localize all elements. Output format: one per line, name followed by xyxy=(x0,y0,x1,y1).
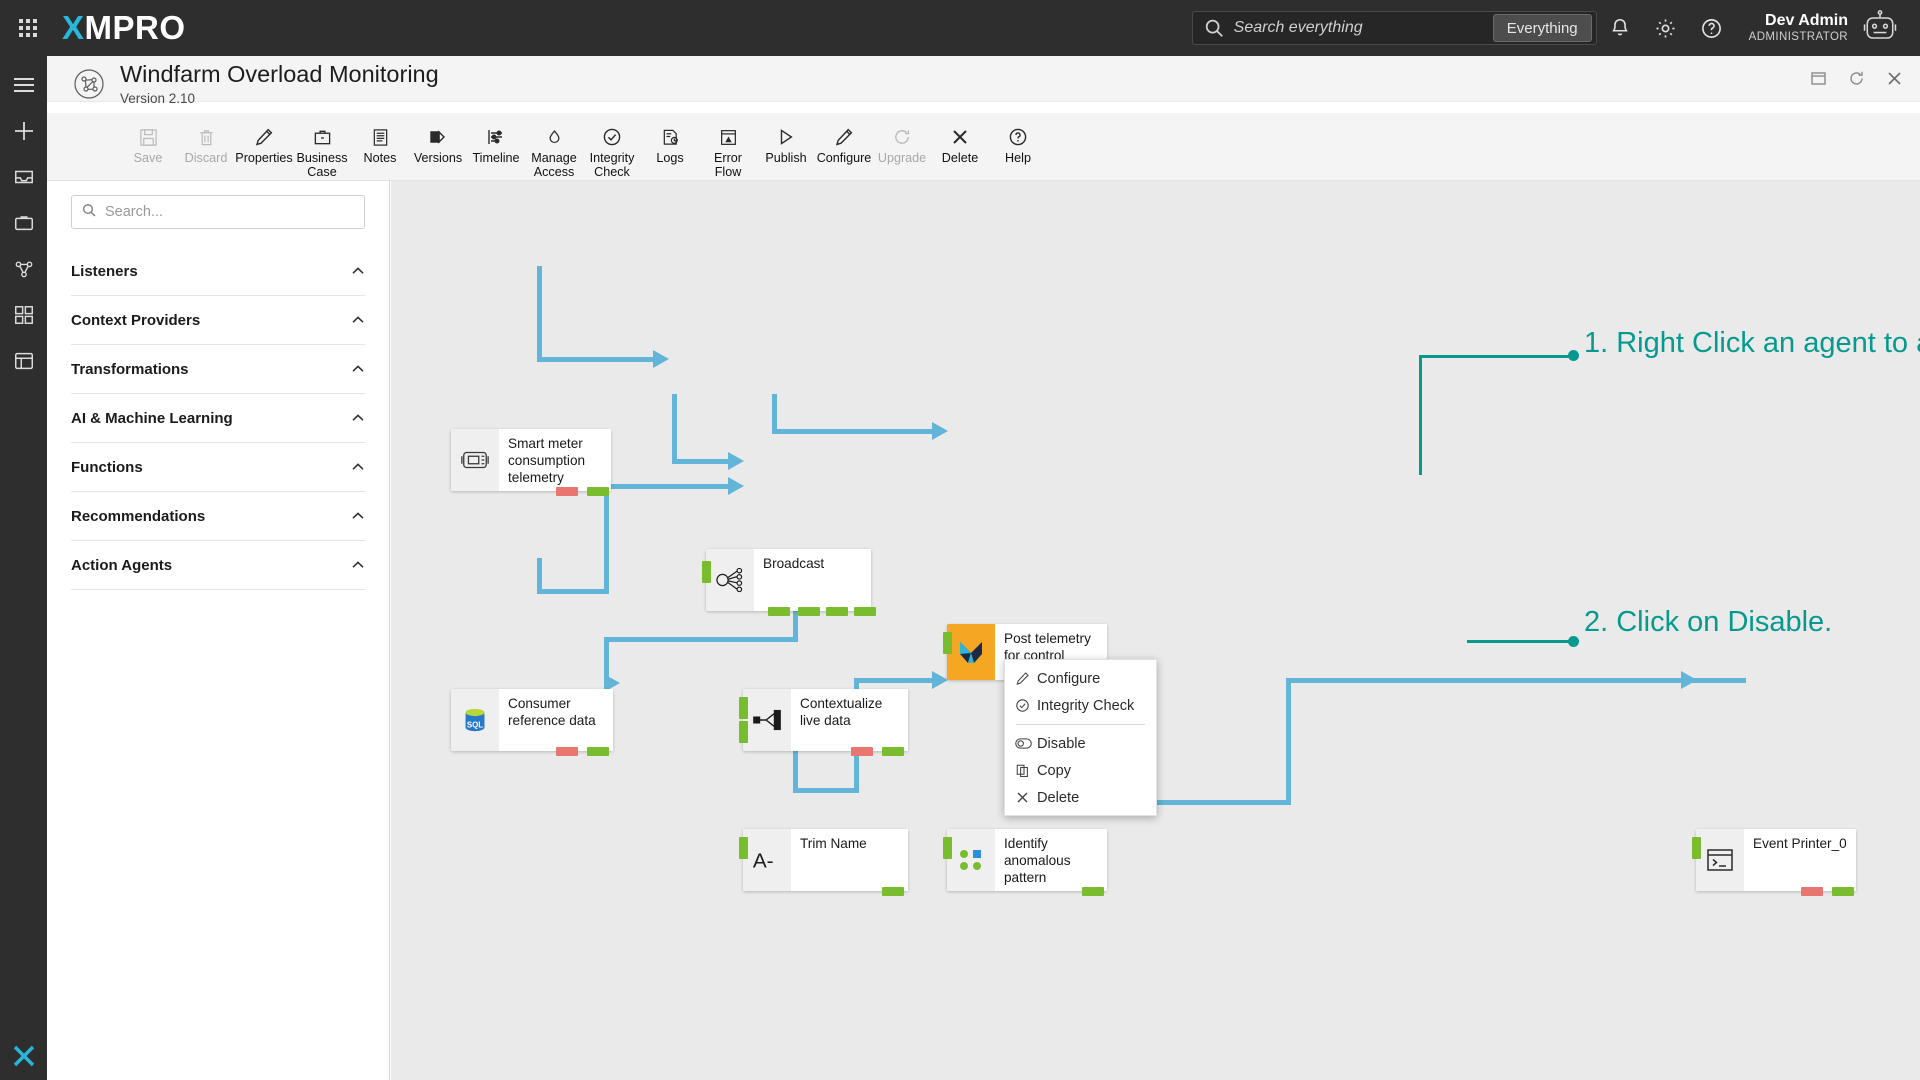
flow-node-consumer-ref[interactable]: SQL Consumer reference data xyxy=(451,689,613,751)
toolbar-upgrade-label: Upgrade xyxy=(878,151,926,165)
node-port-in[interactable] xyxy=(943,632,952,654)
palette-search[interactable] xyxy=(71,195,365,229)
toolbar-integrity-check-label: Integrity Check xyxy=(583,151,641,180)
arrowhead xyxy=(932,671,948,689)
flow-node-broadcast[interactable]: Broadcast xyxy=(706,549,871,611)
user-name: Dev Admin xyxy=(1749,12,1848,30)
node-body: Consumer reference data xyxy=(499,689,613,751)
check-circle-icon xyxy=(602,121,622,147)
flow-node-title: Consumer reference data xyxy=(508,696,605,730)
toolbar-discard[interactable]: Discard xyxy=(177,113,235,165)
link-consumer-ctx-v2 xyxy=(604,486,609,591)
x-icon xyxy=(1015,790,1037,805)
palette-section-label: AI & Machine Learning xyxy=(71,410,233,427)
node-port-in[interactable] xyxy=(1692,837,1701,859)
palette-section-ai-machine-learning[interactable]: AI & Machine Learning xyxy=(71,394,365,443)
help-circle-icon xyxy=(1008,121,1028,147)
chevron-up-icon xyxy=(351,460,365,474)
node-port-in-2[interactable] xyxy=(739,721,748,743)
node-port-in[interactable] xyxy=(702,561,711,583)
search-icon xyxy=(81,202,97,223)
node-port-error[interactable] xyxy=(556,487,578,496)
flow-node-title: Smart meter consumption telemetry xyxy=(508,436,603,487)
flow-node-title: Trim Name xyxy=(800,836,900,853)
link-identify-printer-v2 xyxy=(1286,678,1291,805)
node-port-in-1[interactable] xyxy=(739,697,748,719)
context-menu-label: Integrity Check xyxy=(1037,698,1134,714)
toolbar-save[interactable]: Save xyxy=(119,113,177,165)
node-port-out-2[interactable] xyxy=(798,607,820,616)
copy-icon xyxy=(1015,763,1037,778)
context-menu-label: Copy xyxy=(1037,763,1071,779)
flow-node-event-printer[interactable]: Event Printer_0 xyxy=(1696,829,1856,891)
node-port-out[interactable] xyxy=(1082,887,1104,896)
palette-section-recommendations[interactable]: Recommendations xyxy=(71,492,365,541)
notes-icon xyxy=(371,121,390,147)
xmpro-x-icon[interactable] xyxy=(0,1042,47,1068)
link-broadcast-ctx-v1 xyxy=(672,394,677,464)
toolbar-business-case[interactable]: Business Case xyxy=(293,113,351,180)
toolbar-properties[interactable]: Properties xyxy=(235,113,293,165)
dashboard-icon[interactable] xyxy=(0,338,47,384)
annotation-2-leader-h xyxy=(1467,640,1572,643)
toolbar-configure-label: Configure xyxy=(817,151,872,165)
context-menu-separator xyxy=(1016,724,1145,725)
toolbar-properties-label: Properties xyxy=(235,151,292,165)
palette-section-label: Action Agents xyxy=(71,557,172,574)
palette-search-input[interactable] xyxy=(97,204,355,220)
meter-device-icon xyxy=(451,429,499,491)
logo-x: X xyxy=(62,9,85,47)
hamburger-menu-icon[interactable] xyxy=(0,62,47,108)
search-icon xyxy=(1203,17,1225,39)
toolbar-manage-access-label: Manage Access xyxy=(525,151,583,180)
node-body: Smart meter consumption telemetry xyxy=(499,429,611,491)
top-bar: XMPRO Everything Dev Admin ADMINISTRATOR xyxy=(0,0,1920,56)
toolbar-error-flow[interactable]: Error Flow xyxy=(699,113,757,180)
flow-node-title: Identify anomalous pattern xyxy=(1004,836,1099,887)
node-body: Identify anomalous pattern xyxy=(995,829,1107,891)
node-port-out[interactable] xyxy=(882,887,904,896)
palette-section-action-agents[interactable]: Action Agents xyxy=(71,541,365,590)
link-consumer-ctx-h2 xyxy=(604,484,732,489)
node-body: Event Printer_0 xyxy=(1744,829,1856,891)
node-port-out[interactable] xyxy=(1832,887,1854,896)
context-menu-item-copy[interactable]: Copy xyxy=(1005,757,1156,784)
x-icon xyxy=(950,121,970,147)
node-port-out-3[interactable] xyxy=(826,607,848,616)
link-consumer-ctx-h1 xyxy=(537,589,609,594)
palette-section-label: Context Providers xyxy=(71,312,200,329)
link-identify-printer-h2 xyxy=(1286,678,1746,683)
node-port-error[interactable] xyxy=(851,747,873,756)
node-port-out-1[interactable] xyxy=(768,607,790,616)
node-body: Contextualize live data xyxy=(791,689,908,751)
context-menu-item-delete[interactable]: Delete xyxy=(1005,784,1156,811)
palette-section-label: Recommendations xyxy=(71,508,205,525)
node-port-out[interactable] xyxy=(882,747,904,756)
annotation-2-dot xyxy=(1568,636,1579,647)
arrowhead xyxy=(728,452,744,470)
palette-section-listeners[interactable]: Listeners xyxy=(71,247,365,296)
toolbar-timeline[interactable]: Timeline xyxy=(467,113,525,165)
manage-access-icon xyxy=(545,121,564,147)
bell-icon[interactable] xyxy=(1597,5,1643,51)
page-container: Windfarm Overload Monitoring Version 2.1… xyxy=(47,56,1920,1080)
flow-node-smart-meter[interactable]: Smart meter consumption telemetry xyxy=(451,429,611,491)
link-broadcast-post-h xyxy=(772,429,937,434)
link-broadcast-post-v xyxy=(772,394,777,434)
context-menu-item-configure[interactable]: Configure xyxy=(1005,665,1156,692)
page-header: Windfarm Overload Monitoring Version 2.1… xyxy=(47,56,1920,102)
chevron-up-icon xyxy=(351,411,365,425)
play-icon xyxy=(776,121,796,147)
palette-section-label: Transformations xyxy=(71,361,189,378)
arrowhead xyxy=(653,350,669,368)
node-port-out-4[interactable] xyxy=(854,607,876,616)
briefcase-icon[interactable] xyxy=(0,200,47,246)
agent-palette-panel: Listeners Context Providers Transformati… xyxy=(47,181,390,1080)
inbox-icon[interactable] xyxy=(0,154,47,200)
help-icon[interactable] xyxy=(1689,5,1735,51)
node-port-error[interactable] xyxy=(1801,887,1823,896)
broadcast-icon xyxy=(706,549,754,611)
apps-grid-icon[interactable] xyxy=(0,0,56,56)
logs-icon xyxy=(661,121,680,147)
context-menu-label: Disable xyxy=(1037,736,1086,752)
toolbar-save-label: Save xyxy=(134,151,163,165)
window-controls xyxy=(1808,68,1904,88)
node-context-menu[interactable]: Configure Integrity Check Disable xyxy=(1004,659,1157,816)
link-trim-identify-h xyxy=(793,788,859,793)
link-broadcast-ctx-h xyxy=(672,459,732,464)
logo-text: MPRO xyxy=(85,9,186,47)
context-menu-label: Configure xyxy=(1037,671,1100,687)
chevron-up-icon xyxy=(351,362,365,376)
refresh-button[interactable] xyxy=(1846,68,1866,88)
toolbar-configure[interactable]: Configure xyxy=(815,113,873,165)
page-titles: Windfarm Overload Monitoring Version 2.1… xyxy=(120,60,439,106)
toolbar-publish-label: Publish xyxy=(765,151,806,165)
toolbar-notes[interactable]: Notes xyxy=(351,113,409,165)
palette-section-functions[interactable]: Functions xyxy=(71,443,365,492)
toggle-off-icon xyxy=(1015,737,1037,750)
pencil-icon xyxy=(254,121,274,147)
flow-node-identify-anomalous[interactable]: Identify anomalous pattern xyxy=(947,829,1107,891)
toolbar-manage-access[interactable]: Manage Access xyxy=(525,113,583,180)
annotation-1-leader-h xyxy=(1419,355,1574,358)
upgrade-icon xyxy=(892,121,912,147)
link-ctx-trim-h xyxy=(604,637,798,642)
node-port-in[interactable] xyxy=(739,837,748,859)
toolbar-discard-label: Discard xyxy=(185,151,228,165)
flow-node-title: Broadcast xyxy=(763,556,863,573)
page-title: Windfarm Overload Monitoring xyxy=(120,60,439,88)
link-smartmeter-broadcast-v xyxy=(537,266,542,362)
text-trim-icon: A- xyxy=(743,829,791,891)
toolbar-integrity-check[interactable]: Integrity Check xyxy=(583,113,641,180)
toolbar-upgrade[interactable]: Upgrade xyxy=(873,113,931,165)
save-icon xyxy=(139,121,158,147)
xmpro-agent-icon xyxy=(947,624,995,680)
node-port-out[interactable] xyxy=(587,747,609,756)
flow-canvas[interactable]: Smart meter consumption telemetry Broadc… xyxy=(391,181,1920,1080)
palette-section-label: Functions xyxy=(71,459,143,476)
error-flow-icon xyxy=(719,121,738,147)
link-trim-identify-h2 xyxy=(854,678,939,683)
chevron-up-icon xyxy=(351,264,365,278)
annotation-1-leader-v xyxy=(1419,357,1422,475)
toolbar-timeline-label: Timeline xyxy=(472,151,519,165)
toolbar-delete[interactable]: Delete xyxy=(931,113,989,165)
link-trim-identify-v xyxy=(793,749,798,793)
context-menu-label: Delete xyxy=(1037,790,1079,806)
page-version: Version 2.10 xyxy=(120,91,439,107)
pencil-icon xyxy=(1015,671,1037,686)
sql-database-icon: SQL xyxy=(451,689,499,751)
annotation-1-text: 1. Right Click an agent to access the Co… xyxy=(1584,326,1920,361)
toolbar-logs[interactable]: Logs xyxy=(641,113,699,165)
toolbar-help-label: Help xyxy=(1005,151,1031,165)
arrowhead xyxy=(728,477,744,495)
chevron-up-icon xyxy=(351,509,365,523)
palette-search-wrap xyxy=(47,181,389,237)
xmpro-logo[interactable]: XMPRO xyxy=(62,9,186,47)
palette-section-transformations[interactable]: Transformations xyxy=(71,345,365,394)
search-scope-button[interactable]: Everything xyxy=(1493,14,1592,42)
briefcase-icon xyxy=(313,121,332,147)
palette-sections: Listeners Context Providers Transformati… xyxy=(47,237,389,590)
data-stream-icon xyxy=(72,67,106,101)
minimize-button[interactable] xyxy=(1808,68,1828,88)
svg-text:A-: A- xyxy=(753,850,774,873)
versions-icon xyxy=(428,121,448,147)
toolbar-business-case-label: Business Case xyxy=(293,151,351,180)
console-icon xyxy=(1696,829,1744,891)
gear-icon[interactable] xyxy=(1643,5,1689,51)
link-consumer-ctx-v xyxy=(537,558,542,593)
join-merge-icon xyxy=(743,689,791,751)
context-menu-item-disable[interactable]: Disable xyxy=(1005,730,1156,757)
toolbar-publish[interactable]: Publish xyxy=(757,113,815,165)
flow-toolbar: Save Discard Properties Business Case No xyxy=(47,113,1920,181)
node-body: Trim Name xyxy=(791,829,908,891)
global-search[interactable]: Everything xyxy=(1192,11,1597,45)
annotation-1-dot xyxy=(1568,350,1579,361)
flow-node-title: Event Printer_0 xyxy=(1753,836,1848,853)
toolbar-help[interactable]: Help xyxy=(989,113,1047,165)
toolbar-versions-label: Versions xyxy=(414,151,462,165)
close-button[interactable] xyxy=(1884,68,1904,88)
node-port-error[interactable] xyxy=(556,747,578,756)
palette-section-label: Listeners xyxy=(71,263,138,280)
flow-node-trim-name[interactable]: A- Trim Name xyxy=(743,829,908,891)
left-rail xyxy=(0,56,47,1080)
chevron-up-icon xyxy=(351,313,365,327)
toolbar-logs-label: Logs xyxy=(656,151,683,165)
toolbar-error-flow-label: Error Flow xyxy=(699,151,757,180)
flows-icon[interactable] xyxy=(0,246,47,292)
svg-text:SQL: SQL xyxy=(467,721,483,730)
timeline-icon xyxy=(486,121,506,147)
palette-section-context-providers[interactable]: Context Providers xyxy=(71,296,365,345)
toolbar-notes-label: Notes xyxy=(364,151,397,165)
add-icon[interactable] xyxy=(0,108,47,154)
pattern-dots-icon xyxy=(947,829,995,891)
topbar-right-group: Everything Dev Admin ADMINISTRATOR xyxy=(1192,5,1920,51)
arrowhead xyxy=(932,422,948,440)
apps-icon[interactable] xyxy=(0,292,47,338)
robot-avatar-icon[interactable] xyxy=(1858,6,1902,50)
node-body: Broadcast xyxy=(754,549,871,611)
chevron-up-icon xyxy=(351,558,365,572)
user-menu[interactable]: Dev Admin ADMINISTRATOR xyxy=(1749,12,1848,44)
arrowhead xyxy=(1681,671,1697,689)
search-input[interactable] xyxy=(1225,19,1495,37)
context-menu-item-integrity-check[interactable]: Integrity Check xyxy=(1005,692,1156,719)
node-port-out[interactable] xyxy=(587,487,609,496)
trash-icon xyxy=(197,121,216,147)
pencil-icon xyxy=(834,121,854,147)
user-role: ADMINISTRATOR xyxy=(1749,31,1848,44)
flow-node-contextualize[interactable]: Contextualize live data xyxy=(743,689,908,751)
flow-node-title: Contextualize live data xyxy=(800,696,900,730)
annotation-2-text: 2. Click on Disable. xyxy=(1584,605,1920,640)
toolbar-delete-label: Delete xyxy=(942,151,978,165)
toolbar-versions[interactable]: Versions xyxy=(409,113,467,165)
node-port-in[interactable] xyxy=(943,837,952,859)
check-circle-icon xyxy=(1015,698,1037,713)
link-smartmeter-broadcast-h xyxy=(537,357,657,362)
